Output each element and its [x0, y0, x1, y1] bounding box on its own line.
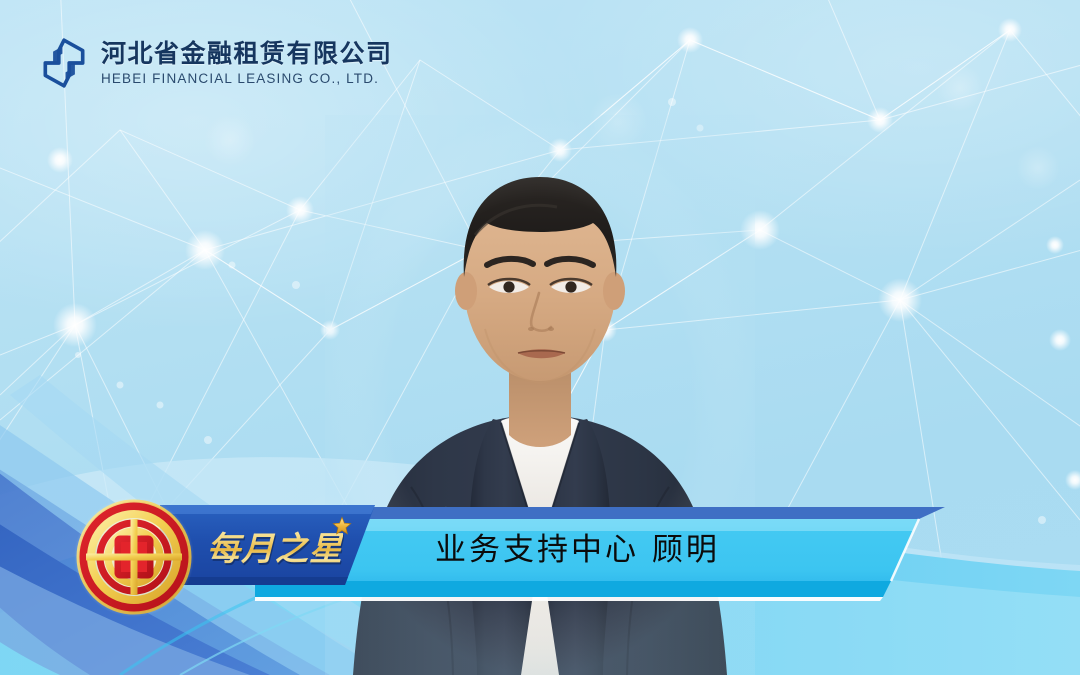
- brand-name-cn: 河北省金融租赁有限公司: [101, 41, 393, 66]
- gold-star-icon: [332, 516, 352, 536]
- trade-union-emblem-icon: [72, 495, 196, 619]
- lower-third-banner: 每月之星 业务支持中心 顾明: [0, 497, 1080, 617]
- presenter-name-label: 业务支持中心 顾明: [435, 524, 720, 569]
- hexagon-interlock-logo-icon: [38, 36, 90, 90]
- award-title-text: 每月之星: [207, 522, 343, 570]
- video-frame: 河北省金融租赁有限公司 HEBEI FINANCIAL LEASING CO.,…: [0, 0, 1080, 675]
- brand-header: 河北省金融租赁有限公司 HEBEI FINANCIAL LEASING CO.,…: [38, 36, 393, 90]
- brand-name-en: HEBEI FINANCIAL LEASING CO., LTD.: [101, 72, 393, 86]
